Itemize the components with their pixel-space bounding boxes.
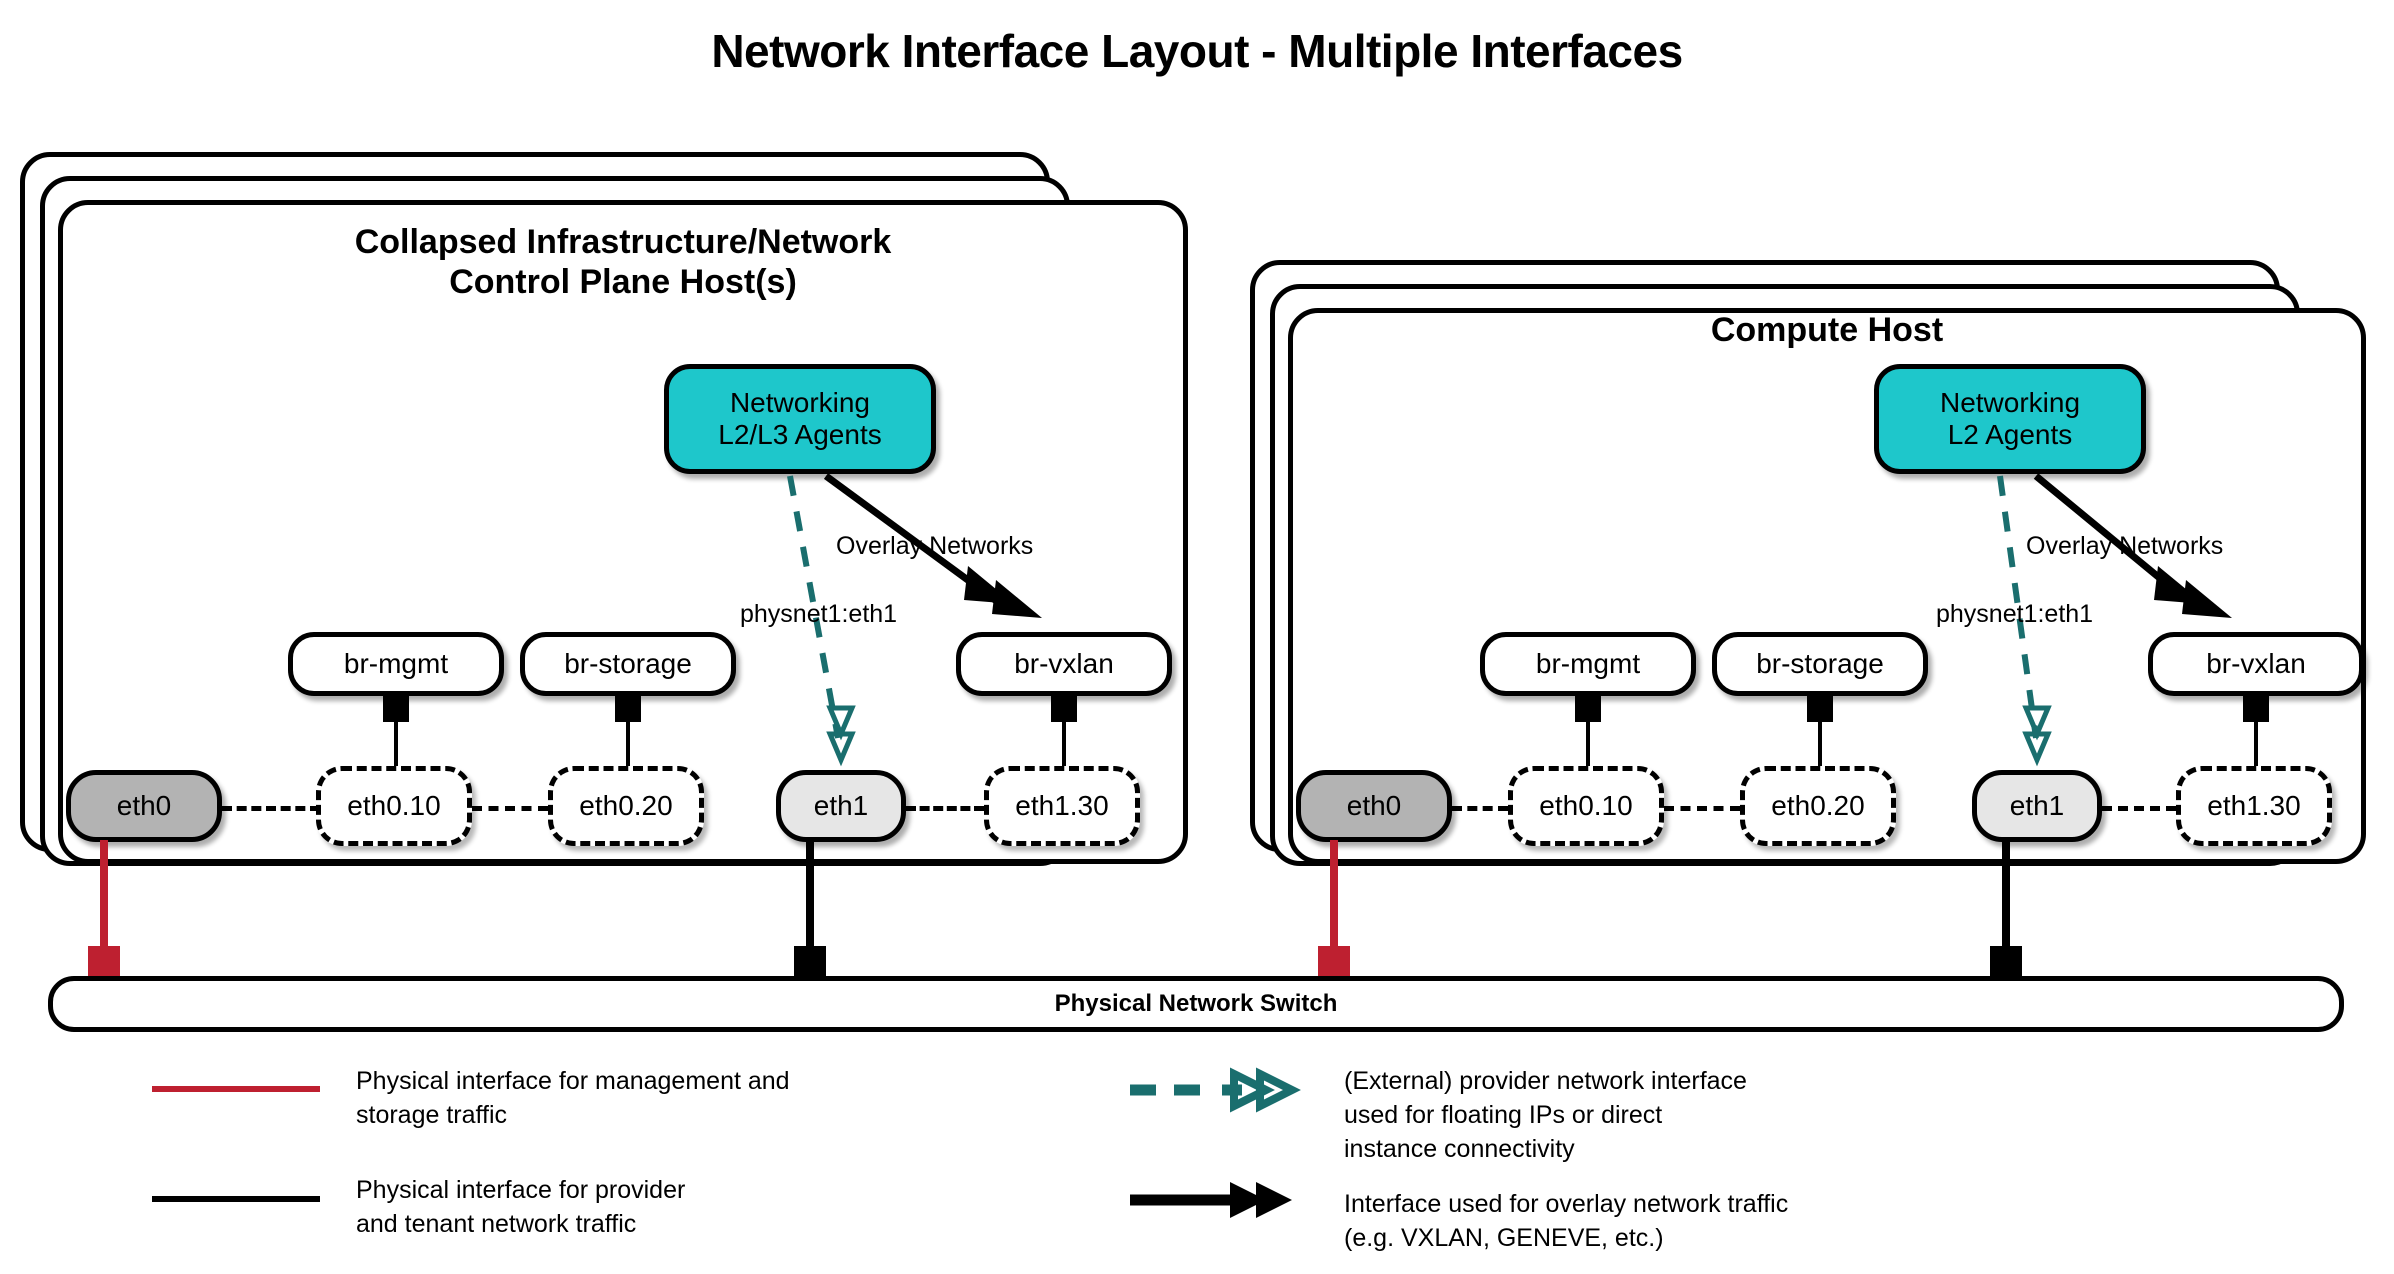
- legend-label-provider-tenant: Physical interface for provider and tena…: [356, 1174, 956, 1242]
- link-eth0-eth0-10-control-plane: [222, 806, 320, 811]
- agent-box-compute[interactable]: Networking L2 Agents: [1874, 364, 2146, 474]
- interface-eth0-compute[interactable]: eth0: [1296, 770, 1452, 842]
- bridge-br-vxlan-control-plane[interactable]: br-vxlan: [956, 632, 1172, 696]
- link-eth1-eth1-30-compute: [2102, 806, 2176, 811]
- edge-label-overlay-control-plane: Overlay Networks: [836, 532, 1033, 561]
- link-eth0-10-eth0-20-compute: [1664, 806, 1740, 811]
- link-eth0-10-eth0-20-control-plane: [472, 806, 548, 811]
- legend-label-overlay-traffic: Interface used for overlay network traff…: [1344, 1188, 2004, 1256]
- bridge-br-mgmt-compute[interactable]: br-mgmt: [1480, 632, 1696, 696]
- edge-label-overlay-compute: Overlay Networks: [2026, 532, 2223, 561]
- edge-label-physnet-compute: physnet1:eth1: [1936, 600, 2093, 629]
- agent-box-control-plane[interactable]: Networking L2/L3 Agents: [664, 364, 936, 474]
- host-title-compute: Compute Host: [1288, 310, 2366, 350]
- port-br-mgmt-compute: [1575, 692, 1601, 722]
- uplink-eth1-to-switch-compute: [2002, 840, 2010, 956]
- legend-swatch-solid-black-double-arrow: [1126, 1176, 1306, 1224]
- legend-swatch-solid-black-line: [152, 1196, 320, 1202]
- interface-eth0-20-compute[interactable]: eth0.20: [1740, 766, 1896, 846]
- bridge-br-mgmt-control-plane[interactable]: br-mgmt: [288, 632, 504, 696]
- interface-eth0-control-plane[interactable]: eth0: [66, 770, 222, 842]
- uplink-eth1-to-switch-control-plane: [806, 840, 814, 956]
- diagram-canvas: Network Interface Layout - Multiple Inte…: [0, 0, 2394, 1274]
- uplink-eth0-to-switch-compute: [1330, 840, 1338, 956]
- legend-swatch-dashed-teal-double-chevron: [1126, 1068, 1306, 1116]
- interface-eth0-10-control-plane[interactable]: eth0.10: [316, 766, 472, 846]
- link-eth1-eth1-30-control-plane: [906, 806, 984, 811]
- interface-eth1-30-compute[interactable]: eth1.30: [2176, 766, 2332, 846]
- port-br-storage-compute: [1807, 692, 1833, 722]
- bridge-br-vxlan-compute[interactable]: br-vxlan: [2148, 632, 2364, 696]
- uplink-eth0-to-switch-control-plane: [100, 840, 108, 956]
- interface-eth1-control-plane[interactable]: eth1: [776, 770, 906, 842]
- interface-eth1-30-control-plane[interactable]: eth1.30: [984, 766, 1140, 846]
- physical-network-switch[interactable]: Physical Network Switch: [48, 976, 2344, 1032]
- link-eth0-eth0-10-compute: [1452, 806, 1508, 811]
- bridge-br-storage-compute[interactable]: br-storage: [1712, 632, 1928, 696]
- interface-eth0-10-compute[interactable]: eth0.10: [1508, 766, 1664, 846]
- legend-swatch-solid-red-line: [152, 1086, 320, 1092]
- port-br-vxlan-control-plane: [1051, 692, 1077, 722]
- bridge-br-storage-control-plane[interactable]: br-storage: [520, 632, 736, 696]
- port-br-storage-control-plane: [615, 692, 641, 722]
- port-br-vxlan-compute: [2243, 692, 2269, 722]
- interface-eth1-compute[interactable]: eth1: [1972, 770, 2102, 842]
- interface-eth0-20-control-plane[interactable]: eth0.20: [548, 766, 704, 846]
- legend-label-external-provider: (External) provider network interface us…: [1344, 1065, 2004, 1166]
- page-title: Network Interface Layout - Multiple Inte…: [0, 24, 2394, 78]
- port-br-mgmt-control-plane: [383, 692, 409, 722]
- legend-label-mgmt-storage: Physical interface for management and st…: [356, 1065, 956, 1133]
- edge-label-physnet-control-plane: physnet1:eth1: [740, 600, 897, 629]
- host-title-control-plane: Collapsed Infrastructure/Network Control…: [58, 222, 1188, 302]
